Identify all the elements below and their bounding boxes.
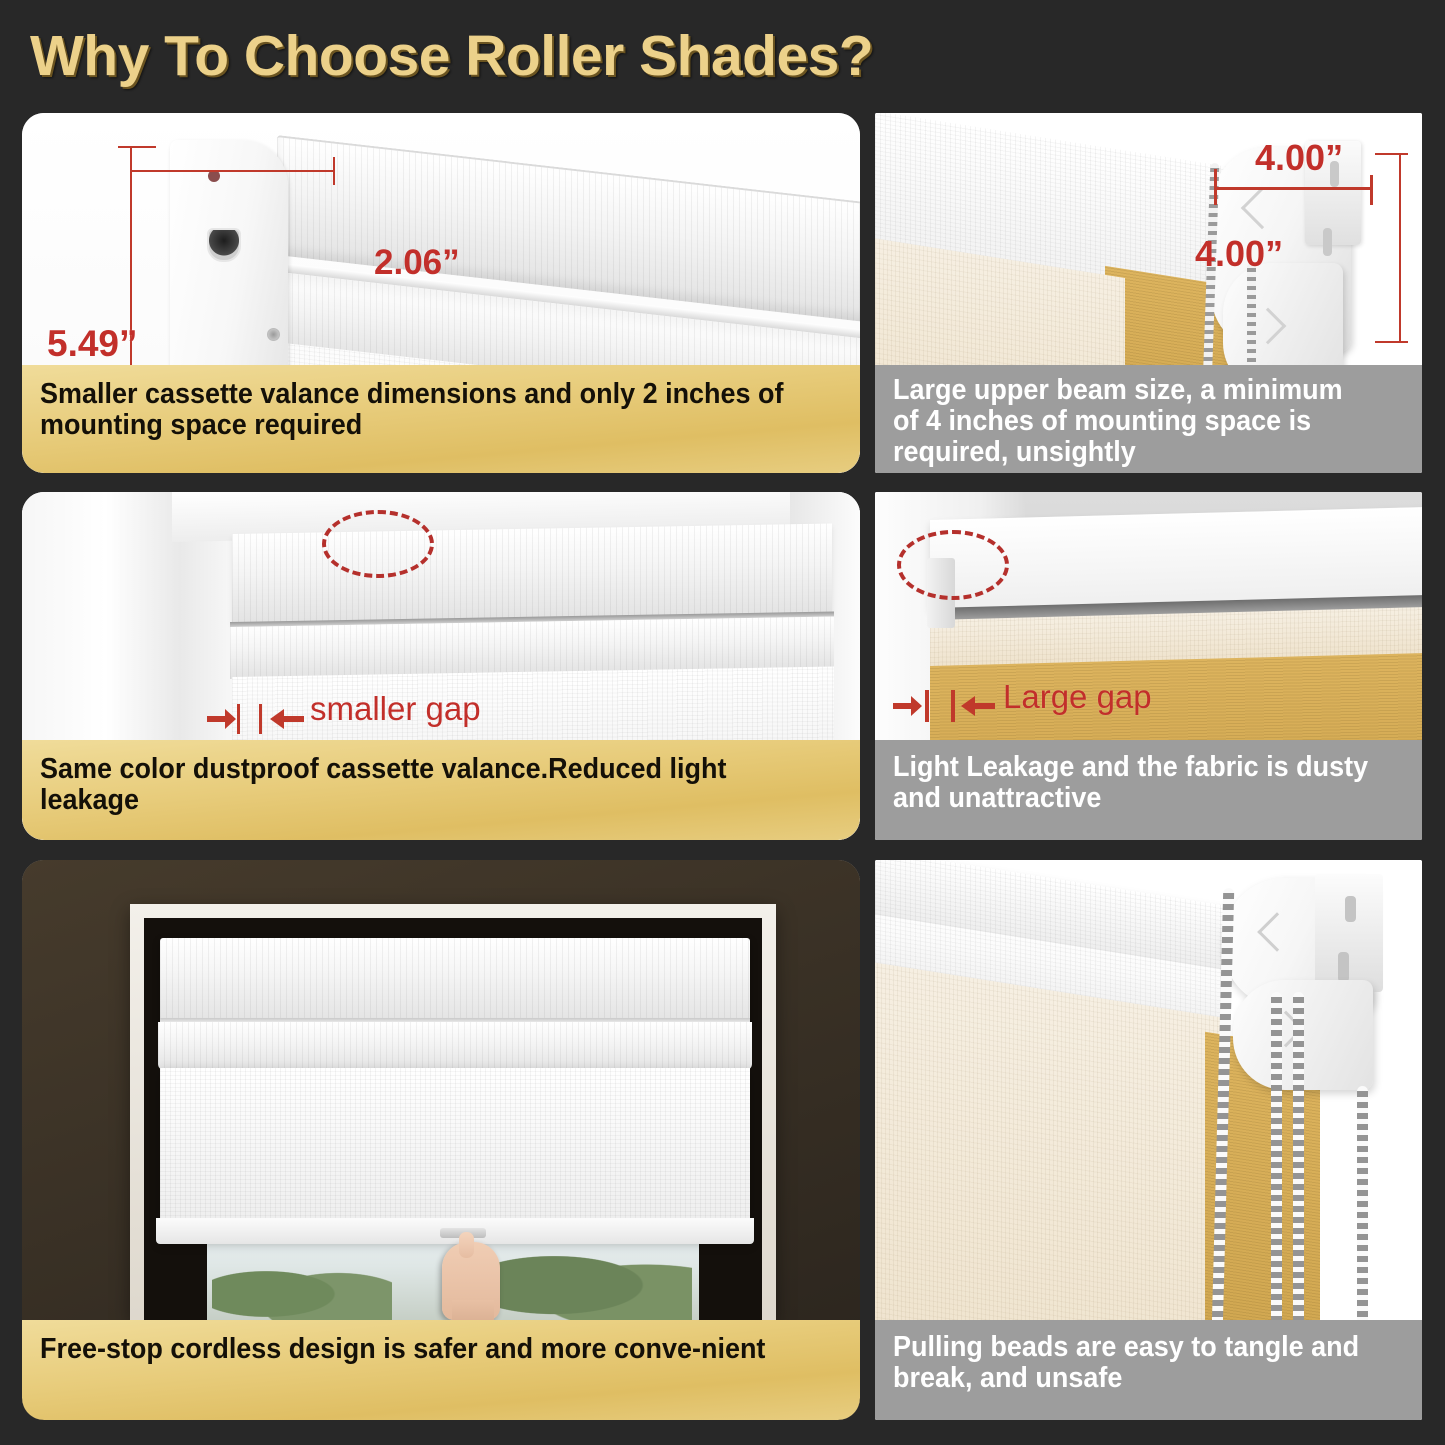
beam-height-tick-top <box>1375 153 1408 155</box>
bracket-slot-lower-icon <box>1323 228 1332 256</box>
hand-forearm <box>452 1300 494 1320</box>
end-cap-slot-icon <box>207 228 241 262</box>
height-dimension-tick-top <box>118 146 156 148</box>
caption-pro-smaller-gap: Same color dustproof cassette valance.Re… <box>22 740 860 840</box>
caption-con-beam-dimensions: Large upper beam size, a minimum of 4 in… <box>875 365 1422 473</box>
gap-highlight-ellipse <box>897 530 1009 600</box>
height-dimension-label: 5.49” <box>47 323 138 365</box>
gap-highlight-ellipse-2 <box>322 510 434 578</box>
panel-pro-cordless-design: Free-stop cordless design is safer and m… <box>22 860 860 1420</box>
gap-arrow-right-icon <box>270 707 304 731</box>
bracket-mount-plate <box>1315 874 1383 992</box>
beam-height-tick-bottom <box>1375 341 1408 343</box>
gap-marker-left <box>925 690 929 722</box>
beam-width-dimension-line <box>1215 187 1373 190</box>
caption-pro-cassette-dimensions: Smaller cassette valance dimensions and … <box>22 365 860 473</box>
caption-text: Free-stop cordless design is safer and m… <box>40 1334 786 1365</box>
cassette-valance <box>160 938 750 1022</box>
bracket-slot-lower-icon <box>1338 952 1349 982</box>
width-dimension-tick-right <box>333 157 335 185</box>
beam-height-dimension-label: 4.00” <box>1195 233 1283 275</box>
gap-arrow-right-icon <box>961 694 995 718</box>
beam-height-dimension-line <box>1399 153 1401 343</box>
caption-pro-cordless-design: Free-stop cordless design is safer and m… <box>22 1320 860 1420</box>
shade-fabric-panel <box>160 1068 750 1240</box>
panel-con-pulling-beads: Pulling beads are easy to tangle and bre… <box>875 860 1422 1420</box>
hand-finger <box>459 1232 474 1258</box>
caption-text: Same color dustproof cassette valance.Re… <box>40 754 786 816</box>
width-dimension-label: 2.06” <box>374 243 460 283</box>
caption-con-pulling-beads: Pulling beads are easy to tangle and bre… <box>875 1320 1422 1420</box>
width-dimension-line <box>130 170 335 172</box>
large-gap-label: Large gap <box>1003 678 1152 716</box>
panel-con-beam-dimensions: 4.00” 4.00” Large upper beam size, a min… <box>875 113 1422 473</box>
beam-width-tick-right <box>1370 175 1373 205</box>
panel-pro-cassette-dimensions: 5.49” 2.06” Smaller cassette valance dim… <box>22 113 860 473</box>
bead-chain-middle <box>1271 992 1282 1368</box>
bracket-slot-upper-icon <box>1345 896 1356 922</box>
panel-con-large-gap: Large gap Light Leakage and the fabric i… <box>875 492 1422 840</box>
infographic-root: Why To Choose Roller Shades? 5.49” 2.06 <box>0 0 1445 1445</box>
gap-marker-right <box>951 690 955 722</box>
beam-width-tick-left <box>1214 169 1217 205</box>
gap-marker-right <box>259 704 262 734</box>
caption-text: Light Leakage and the fabric is dusty an… <box>893 752 1368 814</box>
gap-marker-left <box>237 704 240 734</box>
page-title: Why To Choose Roller Shades? <box>30 20 1230 92</box>
tree-foliage <box>212 1252 392 1320</box>
bead-chain-inner <box>1293 992 1304 1368</box>
beam-width-dimension-label: 4.00” <box>1255 137 1343 179</box>
smaller-gap-label: smaller gap <box>310 690 481 728</box>
caption-text: Pulling beads are easy to tangle and bre… <box>893 1332 1368 1394</box>
caption-text: Large upper beam size, a minimum of 4 in… <box>893 375 1368 468</box>
cassette-lower-rail <box>158 1022 752 1070</box>
caption-text: Smaller cassette valance dimensions and … <box>40 379 786 441</box>
caption-con-large-gap: Light Leakage and the fabric is dusty an… <box>875 740 1422 840</box>
end-cap-screw-lower-icon <box>267 328 280 341</box>
gap-arrow-left-icon <box>207 707 237 731</box>
gap-arrow-left-icon <box>893 694 923 718</box>
panel-pro-smaller-gap: smaller gap Same color dustproof cassett… <box>22 492 860 840</box>
